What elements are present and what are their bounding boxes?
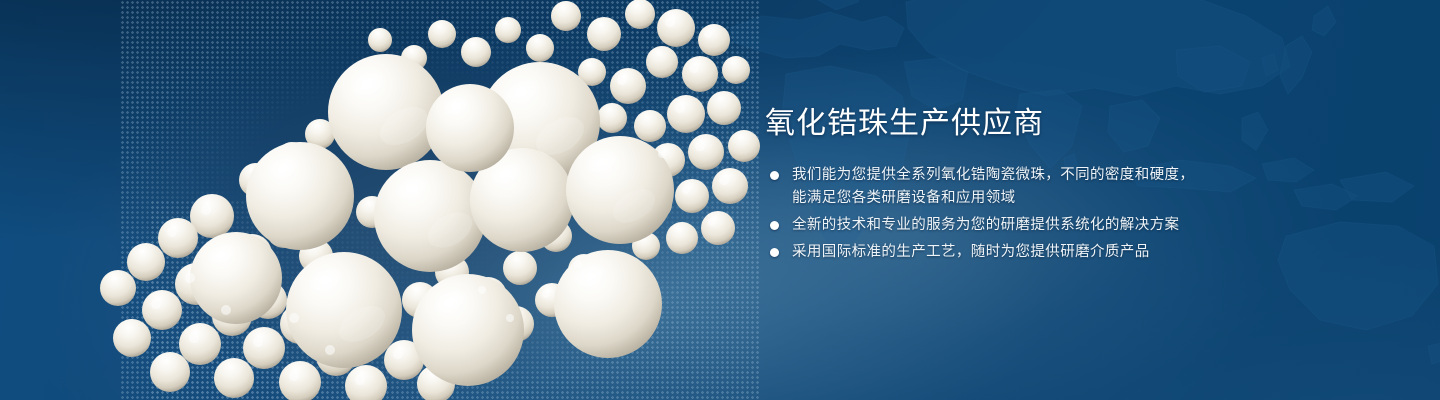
hero-banner: 氧化锆珠生产供应商 我们能为您提供全系列氧化锆陶瓷微珠，不同的密度和硬度， 能满… (0, 0, 1440, 400)
bullet-line-1: 全新的技术和专业的服务为您的研磨提供系统化的解决方案 (792, 217, 1179, 233)
bullet-line-1: 采用国际标准的生产工艺，随时为您提供研磨介质产品 (792, 244, 1150, 260)
bullet-line-2: 能满足您各类研磨设备和应用领域 (792, 187, 1385, 210)
bullet-dot-icon (770, 171, 779, 180)
bullet-dot-icon (770, 248, 779, 257)
banner-copy: 氧化锆珠生产供应商 我们能为您提供全系列氧化锆陶瓷微珠，不同的密度和硬度， 能满… (765, 104, 1385, 264)
banner-bullet-item: 我们能为您提供全系列氧化锆陶瓷微珠，不同的密度和硬度， 能满足您各类研磨设备和应… (765, 164, 1385, 210)
banner-bullet-item: 全新的技术和专业的服务为您的研磨提供系统化的解决方案 (765, 214, 1385, 237)
bullet-line-1: 我们能为您提供全系列氧化锆陶瓷微珠，不同的密度和硬度， (792, 167, 1194, 183)
banner-headline: 氧化锆珠生产供应商 (765, 104, 1385, 144)
bullet-dot-icon (770, 221, 779, 230)
banner-bullet-item: 采用国际标准的生产工艺，随时为您提供研磨介质产品 (765, 241, 1385, 264)
banner-bullet-list: 我们能为您提供全系列氧化锆陶瓷微珠，不同的密度和硬度， 能满足您各类研磨设备和应… (765, 164, 1385, 264)
